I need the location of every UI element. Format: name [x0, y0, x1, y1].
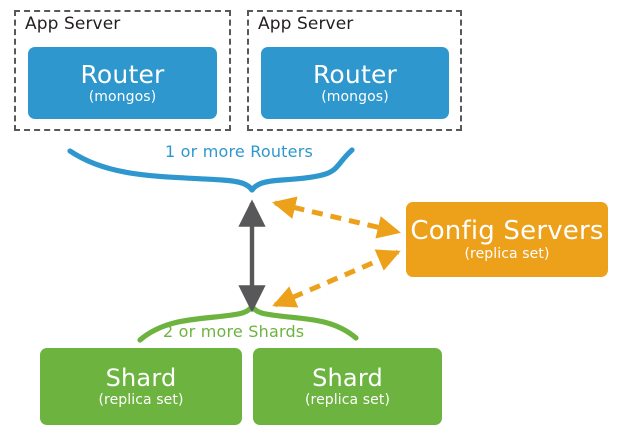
routers-config-arrow: [275, 203, 398, 232]
shard-subtitle-1: (replica set): [98, 393, 183, 408]
app-server-label-2: App Server: [258, 14, 353, 34]
config-servers-title: Config Servers: [410, 218, 603, 245]
shard-node-2[interactable]: Shard (replica set): [253, 348, 442, 425]
router-title-2: Router: [313, 62, 397, 88]
shard-title-2: Shard: [312, 366, 383, 391]
router-node-1[interactable]: Router (mongos): [28, 47, 217, 119]
shard-subtitle-2: (replica set): [305, 393, 390, 408]
shards-brace-label: 2 or more Shards: [163, 322, 304, 341]
shard-node-1[interactable]: Shard (replica set): [40, 348, 242, 425]
router-title-1: Router: [80, 62, 164, 88]
config-servers-subtitle: (replica set): [464, 247, 549, 262]
router-subtitle-1: (mongos): [89, 90, 157, 105]
config-servers-node[interactable]: Config Servers (replica set): [406, 202, 608, 277]
sharded-cluster-diagram: App Server Router (mongos) App Server Ro…: [0, 0, 620, 440]
shard-title-1: Shard: [106, 366, 177, 391]
app-server-label-1: App Server: [25, 14, 120, 34]
router-node-2[interactable]: Router (mongos): [261, 47, 449, 119]
routers-brace-label: 1 or more Routers: [165, 142, 313, 161]
shards-config-arrow: [275, 252, 398, 305]
router-subtitle-2: (mongos): [321, 90, 389, 105]
